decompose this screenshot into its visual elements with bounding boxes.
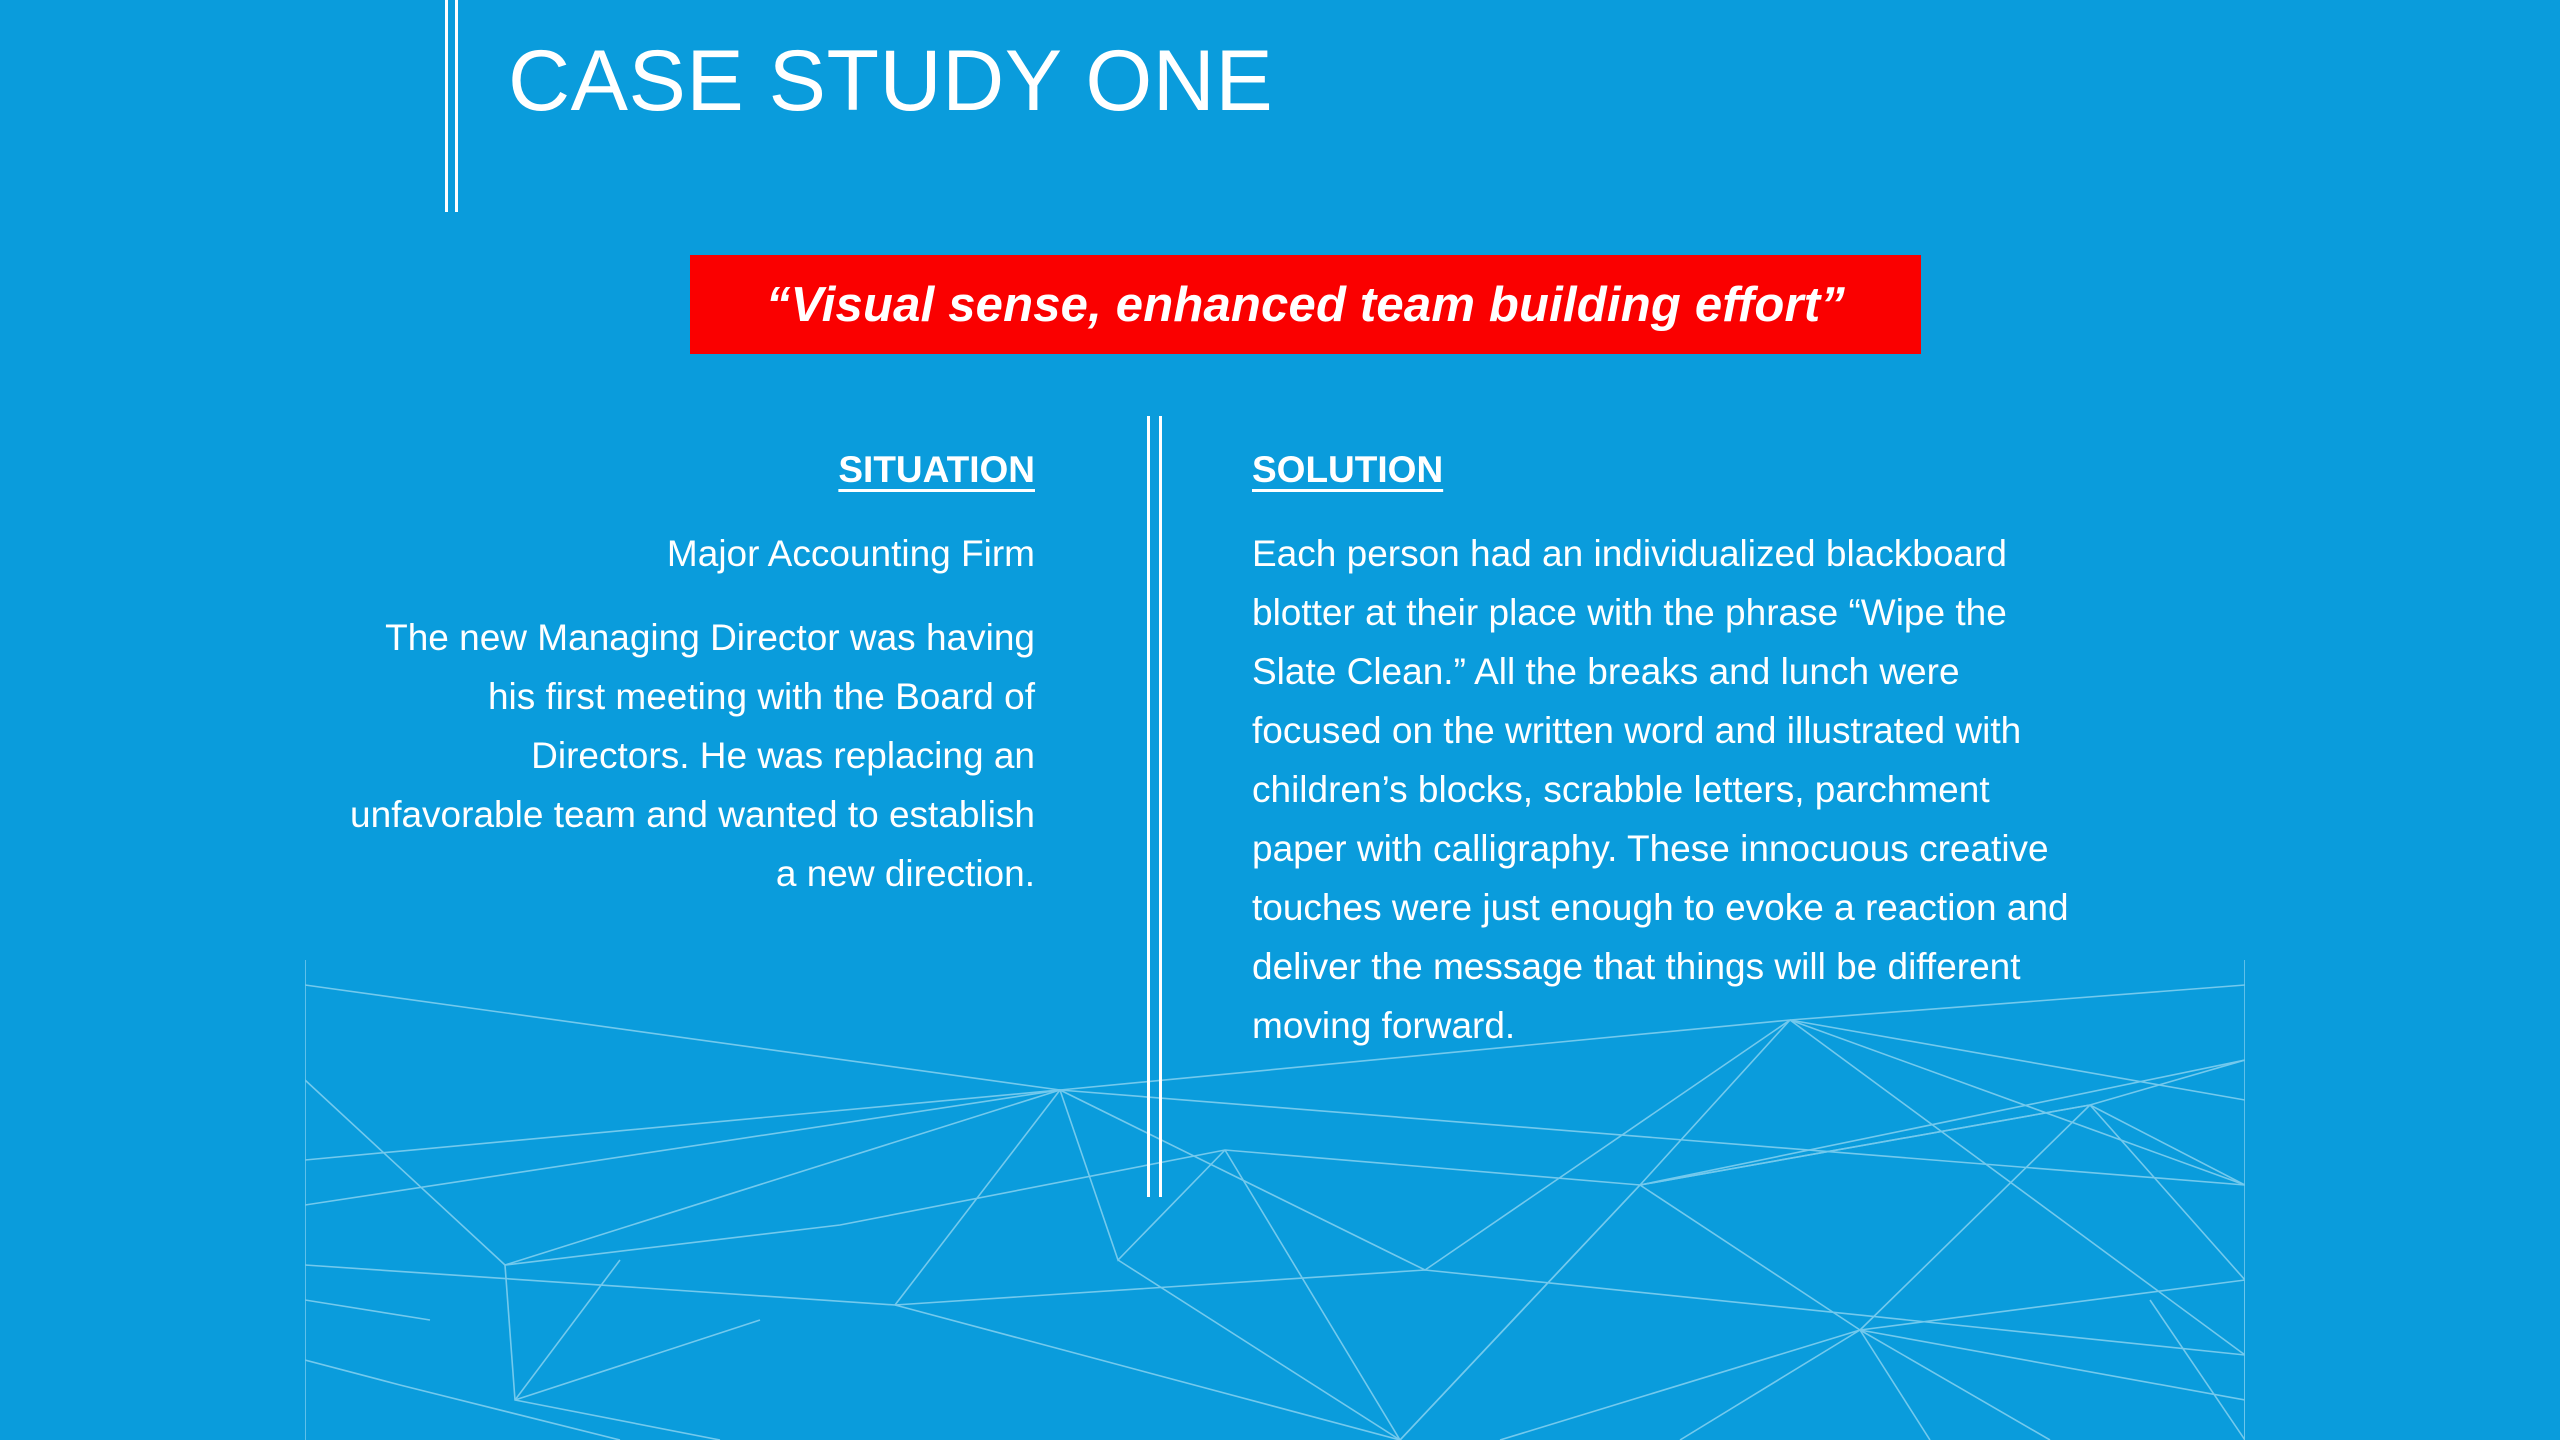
title-accent-rule [445, 0, 458, 212]
quote-banner: “Visual sense, enhanced team building ef… [690, 255, 1921, 354]
solution-body: Each person had an individualized blackb… [1252, 524, 2082, 1055]
column-divider-rule [1147, 416, 1162, 1197]
situation-body: The new Managing Director was having his… [330, 608, 1035, 903]
situation-subject: Major Accounting Firm [330, 524, 1035, 583]
situation-heading: SITUATION [330, 440, 1035, 499]
page-title: CASE STUDY ONE [508, 38, 1273, 124]
situation-column: SITUATION Major Accounting Firm The new … [330, 440, 1035, 903]
solution-spacer-1 [1252, 499, 2082, 524]
situation-spacer-1 [330, 499, 1035, 524]
quote-banner-text: “Visual sense, enhanced team building ef… [766, 277, 1845, 333]
solution-column: SOLUTION Each person had an individualiz… [1252, 440, 2082, 1055]
situation-spacer-2 [330, 583, 1035, 608]
slide-canvas: CASE STUDY ONE “Visual sense, enhanced t… [0, 0, 2560, 1440]
solution-heading: SOLUTION [1252, 440, 2082, 499]
